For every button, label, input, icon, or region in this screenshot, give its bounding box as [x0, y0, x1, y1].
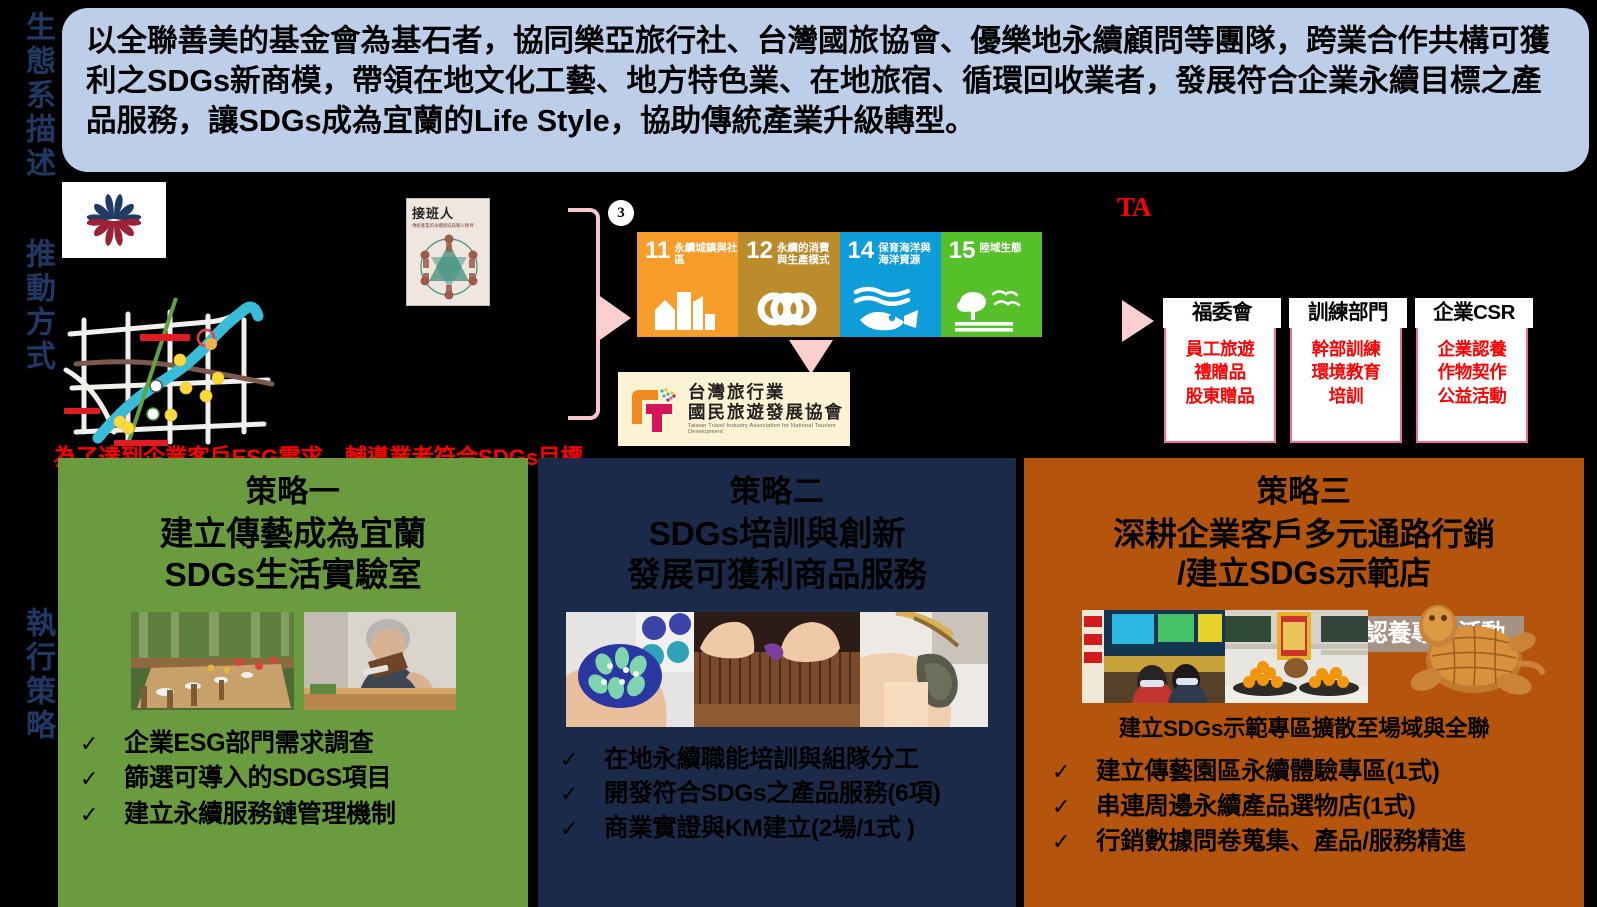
book-title: 接班人 — [412, 203, 489, 222]
strategy-card-3[interactable]: 策略三 深耕企業客戶多元通路行銷 /建立SDGs示範店 2022全聯設置柑仔龜企… — [1024, 458, 1584, 907]
tta-line1: 台灣旅行業 — [688, 383, 850, 403]
craftsman-icon — [304, 612, 456, 710]
rail-label-execution: 執行策略 — [8, 580, 54, 770]
dept-card-welfare[interactable]: 福委會 員工旅遊 禮贈品 股東贈品 — [1164, 325, 1276, 443]
bullet-text: 企業ESG部門需求調查 — [124, 726, 374, 762]
sdg-count-badge: 3 — [608, 200, 634, 226]
sdg-number: 14 — [848, 240, 875, 262]
weaving-loom-photo — [694, 612, 860, 727]
bullet-text: 篩選可導入的SDGS項目 — [124, 761, 391, 797]
city-icon — [645, 286, 717, 332]
tta-mark-icon — [626, 384, 682, 434]
strategy-3-title: 深耕企業客戶多元通路行銷 /建立SDGs示範店 — [1024, 515, 1584, 592]
strategy-2-bullet: ✓ 在地永續職能培訓與組隊分工 — [560, 743, 1016, 778]
strategy-3-head: 策略三 — [1024, 458, 1584, 509]
sdg-goal-12[interactable]: 12 永續的消費與生產模式 — [738, 232, 839, 337]
dept-line: 企業認養 — [1418, 338, 1526, 361]
tta-line2: 國民旅遊發展協會 — [688, 403, 850, 423]
ceramic-craft-photo — [860, 612, 988, 727]
check-icon: ✓ — [80, 728, 124, 759]
check-icon: ✓ — [1052, 756, 1096, 787]
foundation-logo — [62, 182, 166, 258]
glass-craft-icon — [566, 612, 694, 727]
strategy-1-photos — [58, 612, 528, 710]
strategy-2-title: SDGs培訓與創新 發展可獲利商品服務 — [538, 515, 1016, 595]
sdg-number: 12 — [746, 240, 773, 262]
strategy-3-title-line1: 深耕企業客戶多元通路行銷 — [1024, 515, 1584, 553]
sdg-label: 保育海洋與海洋資源 — [878, 240, 941, 266]
dept-line: 公益活動 — [1418, 385, 1526, 408]
dept-title: 企業CSR — [1415, 298, 1533, 328]
banquet-scene-icon — [131, 612, 294, 710]
strategy-2-title-line1: SDGs培訓與創新 — [538, 515, 1016, 555]
strategy-1-title: 建立傳藝成為宜蘭 SDGs生活實驗室 — [58, 515, 528, 595]
arrow-right-to-departments-icon — [1122, 300, 1154, 342]
lotus-emblem-icon — [78, 189, 150, 251]
check-icon: ✓ — [80, 799, 124, 830]
check-icon: ✓ — [560, 744, 604, 775]
sdg-label: 陸域生態 — [979, 240, 1042, 254]
strategy-3-bullet: ✓ 行銷數據問卷蒐集、產品/服務精進 — [1052, 825, 1584, 860]
book-cover-successors: 接班人 傳統產業的永續接班與職人精神 — [406, 198, 490, 306]
strategy-3-photos — [1024, 610, 1584, 703]
dept-line: 作物契作 — [1418, 361, 1526, 384]
supermarket-checkout-photo — [1082, 610, 1225, 703]
arrow-down-to-association-icon — [789, 340, 833, 374]
arrow-right-to-sdg-icon — [597, 294, 631, 342]
dept-line: 培訓 — [1292, 385, 1400, 408]
bullet-text: 在地永續職能培訓與組隊分工 — [604, 743, 919, 778]
ta-label: TA — [1117, 192, 1151, 223]
bullet-text: 建立永續服務鏈管理機制 — [124, 797, 396, 833]
sdg-goal-14[interactable]: 14 保育海洋與海洋資源 — [840, 232, 941, 337]
strategy-1-head: 策略一 — [58, 458, 528, 509]
bullet-text: 商業實證與KM建立(2場/1式 ) — [604, 812, 915, 847]
photo-divider — [1368, 610, 1396, 703]
taiwan-travel-association-logo: 台灣旅行業 國民旅遊發展協會 Taiwan Travel Industry As… — [618, 372, 850, 446]
dept-body: 幹部訓練 環境教育 培訓 — [1292, 327, 1400, 408]
strategy-card-1[interactable]: 策略一 建立傳藝成為宜蘭 SDGs生活實驗室 — [58, 458, 528, 907]
glass-craft-photo — [566, 612, 694, 727]
check-icon: ✓ — [1052, 791, 1096, 822]
orange-display-icon — [1225, 610, 1368, 703]
dept-body: 員工旅遊 禮贈品 股東贈品 — [1166, 327, 1274, 408]
check-icon: ✓ — [560, 813, 604, 844]
tta-english-name: Taiwan Travel Industry Association for N… — [688, 423, 850, 435]
strategy-1-bullet: ✓ 篩選可導入的SDGS項目 — [80, 761, 528, 797]
description-banner: 以全聯善美的基金會為基石者，協同樂亞旅行社、台灣國旅協會、優樂地永續顧問等團隊，… — [62, 8, 1589, 172]
outdoor-banquet-photo — [131, 612, 294, 710]
sdg-goal-15[interactable]: 15 陸域生態 — [941, 232, 1042, 337]
strategy-1-title-line2: SDGs生活實驗室 — [58, 556, 528, 596]
strategy-1-bullet: ✓ 建立永續服務鏈管理機制 — [80, 797, 528, 833]
rail-label-ecosystem: 生態系描述 — [8, 6, 54, 186]
strategy-2-head: 策略二 — [538, 458, 1016, 509]
sdg-goal-strip: 11 永續城鎮與社區 12 永續的消費與生產模式 — [637, 232, 1042, 337]
strategy-3-bullet: ✓ 串連周邊永續產品選物店(1式) — [1052, 790, 1584, 825]
check-icon: ✓ — [1052, 826, 1096, 857]
dept-line: 幹部訓練 — [1292, 338, 1400, 361]
strategy-2-bullet: ✓ 開發符合SDGs之產品服務(6項) — [560, 777, 1016, 812]
strategy-3-title-line2: /建立SDGs示範店 — [1024, 554, 1584, 592]
woven-turtle-icon — [1396, 598, 1546, 703]
strategy-2-title-line2: 發展可獲利商品服務 — [538, 556, 1016, 596]
sdg-goal-11[interactable]: 11 永續城鎮與社區 — [637, 232, 738, 337]
check-icon: ✓ — [80, 763, 124, 794]
bullet-text: 串連周邊永續產品選物店(1式) — [1096, 790, 1415, 825]
strategy-3-sub-caption: 建立SDGs示範專區擴散至場域與全聯 — [1024, 711, 1584, 743]
fish-icon — [848, 286, 920, 332]
bullet-text: 建立傳藝園區永續體驗專區(1式) — [1096, 755, 1440, 790]
bullet-text: 開發符合SDGs之產品服務(6項) — [604, 777, 941, 812]
tree-icon — [949, 286, 1021, 332]
sdg-label: 永續城鎮與社區 — [674, 240, 738, 266]
strategy-2-bullet: ✓ 商業實證與KM建立(2場/1式 ) — [560, 812, 1016, 847]
dept-line: 環境教育 — [1292, 361, 1400, 384]
check-icon: ✓ — [560, 778, 604, 809]
sdg-label: 永續的消費與生產模式 — [777, 240, 840, 266]
sdg-number: 11 — [645, 240, 670, 262]
rail-label-method: 推動方式 — [8, 196, 54, 416]
dept-card-csr[interactable]: 企業CSR 企業認養 作物契作 公益活動 — [1416, 325, 1528, 443]
supermarket-checkout-icon — [1082, 610, 1225, 703]
strategy-3-bullet: ✓ 建立傳藝園區永續體驗專區(1式) — [1052, 755, 1584, 790]
slide-canvas: 生態系描述 推動方式 執行策略 以全聯善美的基金會為基石者，協同樂亞旅行社、台灣… — [0, 0, 1597, 907]
strategy-3-bullets: ✓ 建立傳藝園區永續體驗專區(1式) ✓ 串連周邊永續產品選物店(1式) ✓ 行… — [1024, 755, 1584, 859]
ceramic-craft-icon — [860, 612, 988, 727]
dept-title: 福委會 — [1163, 298, 1281, 328]
strategy-2-bullets: ✓ 在地永續職能培訓與組隊分工 ✓ 開發符合SDGs之產品服務(6項) ✓ 商業… — [538, 743, 1016, 847]
strategy-1-title-line1: 建立傳藝成為宜蘭 — [58, 515, 528, 555]
sdg-number: 15 — [949, 240, 976, 262]
strategy-card-2[interactable]: 策略二 SDGs培訓與創新 發展可獲利商品服務 — [538, 458, 1016, 907]
strategy-1-bullets: ✓ 企業ESG部門需求調查 ✓ 篩選可導入的SDGS項目 ✓ 建立永續服務鏈管理… — [58, 726, 528, 833]
woodworking-craftsman-photo — [304, 612, 456, 710]
bullet-text: 行銷數據問卷蒐集、產品/服務精進 — [1096, 825, 1466, 860]
strategy-2-photos — [538, 612, 1016, 727]
weaving-loom-icon — [694, 612, 860, 727]
strategy-1-bullet: ✓ 企業ESG部門需求調查 — [80, 726, 528, 762]
dept-line: 員工旅遊 — [1166, 338, 1274, 361]
woven-turtle-photo — [1396, 598, 1546, 703]
yilan-area-map-illustration — [58, 292, 290, 450]
orange-display-photo — [1225, 610, 1368, 703]
dept-card-training[interactable]: 訓練部門 幹部訓練 環境教育 培訓 — [1290, 325, 1402, 443]
network-circle-illustration-icon — [415, 229, 483, 301]
dept-line: 股東贈品 — [1166, 385, 1274, 408]
dept-line: 禮贈品 — [1166, 361, 1274, 384]
infinity-icon — [746, 286, 818, 332]
description-text: 以全聯善美的基金會為基石者，協同樂亞旅行社、台灣國旅協會、優樂地永續顧問等團隊，… — [86, 22, 1567, 142]
dept-title: 訓練部門 — [1289, 298, 1407, 328]
map-icon — [58, 292, 290, 450]
sdg-group-bracket — [568, 208, 600, 420]
dept-body: 企業認養 作物契作 公益活動 — [1418, 327, 1526, 408]
